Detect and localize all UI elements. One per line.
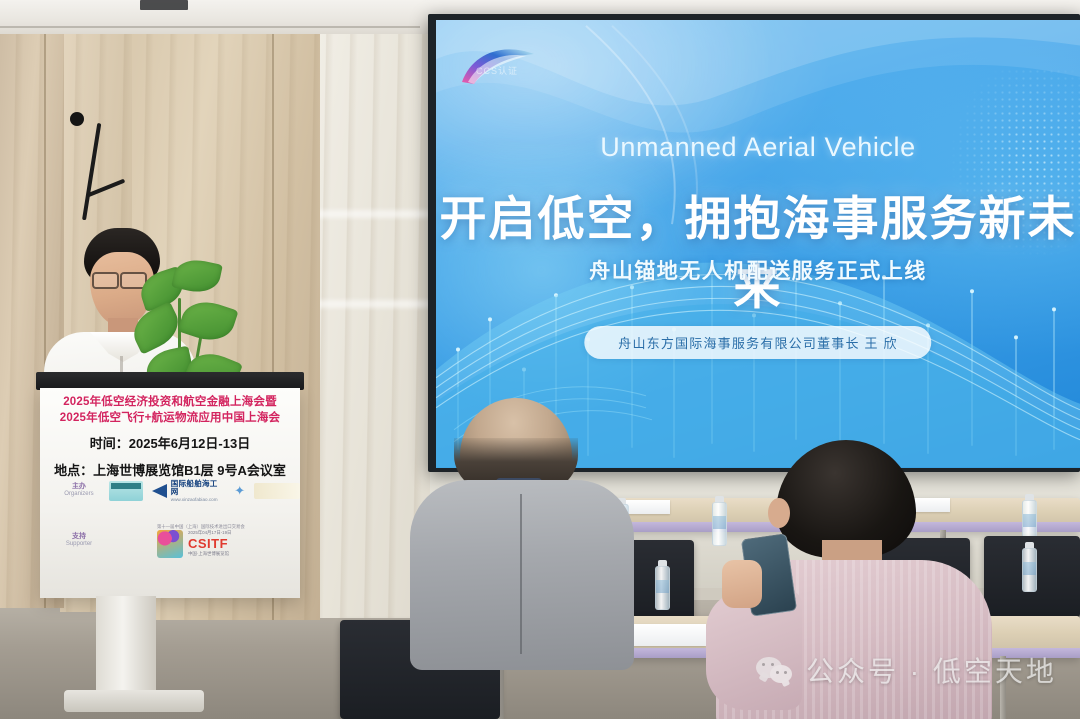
- podium-sign: 2025年低空经济投资和航空金融上海会暨 2025年低空飞行+航运物流应用中国上…: [48, 394, 292, 482]
- screen-subtitle: 舟山锚地无人机配送服务正式上线: [436, 255, 1080, 285]
- csitf-top-line: 第十一届中国（上海）国际技术进出口交易会: [157, 524, 245, 530]
- conference-photo-scene: CCS认证 Unmanned Aerial Vehicle 开启低空，拥抱海事服…: [0, 0, 1080, 719]
- audience-blazer: [410, 480, 634, 670]
- wall-gloss-line-2: [316, 300, 436, 308]
- plant-leaf: [127, 301, 186, 354]
- audience-grey-blazer: [408, 398, 638, 719]
- sign-event-title-line1: 2025年低空经济投资和航空金融上海会暨: [48, 394, 292, 410]
- screen-speaker-pill: 舟山东方国际海事服务有限公司董事长 王 欣: [584, 326, 931, 359]
- csitf-sub-line-2: 中国·上海世博展览馆: [188, 551, 231, 557]
- sign-time-label: 时间：2025年6月12日-13日: [48, 434, 292, 455]
- ceiling-seam: [0, 26, 420, 28]
- organizer-logo-3-icon: [254, 483, 300, 499]
- organizer-logo-1-icon: [109, 481, 143, 501]
- audience-ear: [768, 498, 790, 528]
- blazer-back-seam: [520, 494, 522, 654]
- ceiling-vent-icon: [140, 0, 188, 10]
- glasses-icon: [92, 272, 119, 289]
- paper-plane-icon: [152, 484, 167, 498]
- organizer-logo-row: 主办 Organizers 国际船舶海工网 www.xinzaofabiao.c…: [40, 480, 300, 502]
- screen-main-title: 开启低空，拥抱海事服务新未来: [436, 180, 1080, 318]
- organizer-logo-2-icon: 国际船舶海工网 www.xinzaofabiao.com: [152, 480, 225, 502]
- sign-logo-area: 主办 Organizers 国际船舶海工网 www.xinzaofabiao.c…: [40, 480, 300, 558]
- audience-hand: [722, 560, 762, 608]
- plant-leaf: [177, 295, 238, 347]
- supporter-tag: 支持 Supporter: [58, 533, 100, 548]
- supporter-logo-row: 支持 Supporter 第十一届中国（上海）国际技术进出口交易会 2025年0…: [40, 524, 300, 558]
- channel-watermark: 公众号 · 低空天地: [756, 650, 1057, 690]
- wall-gloss-line-1: [316, 210, 436, 218]
- csitf-name: CSITF: [188, 536, 231, 551]
- organizer-tag-en: Organizers: [58, 491, 100, 498]
- water-bottle[interactable]: [1022, 542, 1037, 592]
- screen-logo-caption: CCS认证: [476, 64, 518, 77]
- organizer-logo-2-url: www.xinzaofabiao.com: [171, 497, 225, 502]
- supporter-tag-en: Supporter: [58, 541, 100, 548]
- screen-eyebrow-text: Unmanned Aerial Vehicle: [436, 132, 1080, 163]
- watermark-text: 公众号 · 低空天地: [806, 650, 1057, 690]
- podium: 2025年低空经济投资和航空金融上海会暨 2025年低空飞行+航运物流应用中国上…: [40, 388, 300, 598]
- star-icon: ✦: [234, 483, 245, 499]
- csitf-glyph-icon: [157, 530, 183, 558]
- organizer-tag-cn: 主办: [58, 483, 100, 491]
- organizer-tag: 主办 Organizers: [58, 483, 100, 498]
- csitf-logo: 2025年04月17日-19日 CSITF 中国·上海世博展览馆: [157, 530, 245, 558]
- wechat-icon: [756, 655, 794, 685]
- sign-event-title-line2: 2025年低空飞行+航运物流应用中国上海会: [48, 410, 292, 426]
- microphone-icon: [70, 112, 84, 126]
- supporter-tag-cn: 支持: [58, 533, 100, 541]
- water-bottle[interactable]: [655, 560, 670, 610]
- organizer-logo-2-name: 国际船舶海工网: [171, 480, 225, 497]
- podium-base: [64, 690, 204, 712]
